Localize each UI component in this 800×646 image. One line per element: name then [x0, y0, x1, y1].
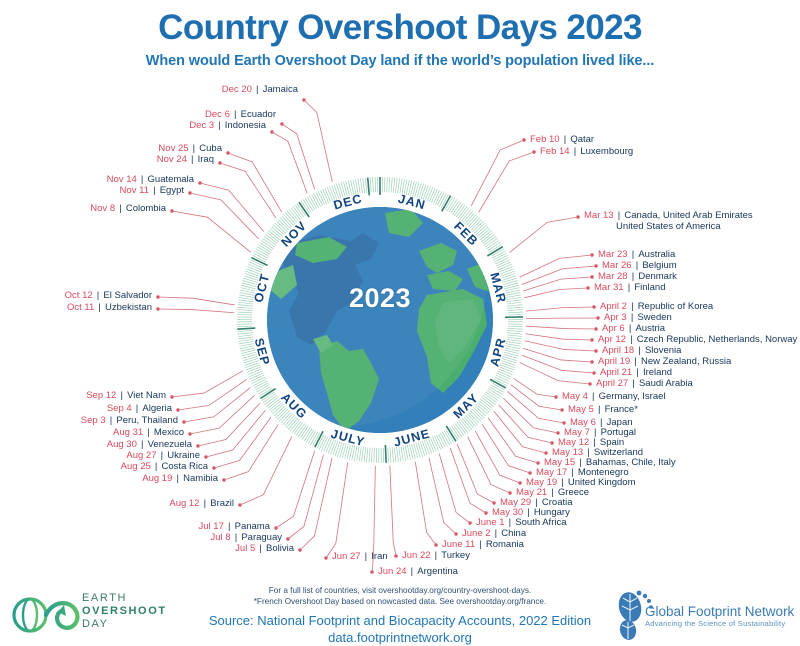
leader-line: [326, 462, 348, 558]
country-overshoot-label: Apr 6 | Austria: [602, 323, 665, 335]
overshoot-date: Mar 23: [598, 249, 628, 260]
country-overshoot-label: Mar 28 | Denmark: [598, 271, 677, 283]
overshoot-date: June 2: [462, 528, 491, 539]
country-overshoot-label: Nov 8 | Colombia: [90, 203, 166, 215]
label-separator: |: [547, 487, 558, 498]
label-separator: |: [143, 427, 154, 438]
overshoot-date: Sep 12: [86, 390, 116, 401]
country-name: Republic of Korea: [638, 301, 714, 312]
overshoot-date: May 30: [492, 507, 523, 518]
overshoot-date: June 11: [442, 539, 475, 550]
country-overshoot-label: June 11 | Romania: [442, 539, 524, 551]
earth-globe: [267, 207, 493, 433]
label-separator: |: [590, 427, 601, 438]
label-separator: |: [475, 539, 486, 550]
country-name: France*: [605, 404, 638, 415]
overshoot-date: June 1: [476, 517, 505, 528]
leader-line: [526, 318, 598, 319]
overshoot-date: Feb 10: [530, 134, 560, 145]
country-name-continued: United States of America: [584, 221, 753, 232]
country-overshoot-label: Mar 26 | Belgium: [602, 260, 677, 272]
globe-infinity-icon: [14, 599, 77, 631]
globe-dial: 2023 JANFEBMARAPRMAYJUNEJULYAUGSEPOCTNOV…: [235, 175, 525, 465]
country-name: Egypt: [160, 185, 184, 196]
label-separator: |: [231, 532, 242, 543]
country-name: Spain: [600, 437, 624, 448]
country-overshoot-label: Jun 22 | Turkey: [402, 550, 470, 562]
label-separator: |: [199, 498, 210, 509]
country-name: Denmark: [638, 271, 677, 282]
country-name: Bolivia: [266, 543, 294, 554]
country-name: United Kingdom: [568, 477, 636, 488]
overshoot-date: April 21: [600, 367, 632, 378]
country-overshoot-label: Oct 11 | Uzbekistan: [67, 302, 152, 314]
country-name: Saudi Arabia: [639, 378, 693, 389]
country-overshoot-label: April 21 | Ireland: [600, 367, 672, 379]
country-overshoot-label: May 12 | Spain: [558, 437, 624, 449]
country-overshoot-label: Aug 31 | Mexico: [113, 427, 184, 439]
country-name: Guatemala: [148, 174, 194, 185]
overshoot-date: Apr 6: [602, 323, 625, 334]
country-overshoot-label: Mar 31 | Finland: [594, 282, 666, 294]
label-separator: |: [132, 403, 143, 414]
country-overshoot-label: Aug 30 | Venezuela: [107, 439, 192, 451]
overshoot-date: May 15: [544, 457, 575, 468]
country-name: Finland: [634, 282, 665, 293]
country-overshoot-label: May 19 | United Kingdom: [526, 477, 636, 489]
country-name: Belgium: [642, 260, 676, 271]
leader-line: [158, 297, 235, 305]
eod-line-3: DAY: [82, 618, 167, 631]
leader-line: [525, 334, 592, 340]
label-separator: |: [531, 497, 542, 508]
leader-line: [520, 255, 592, 277]
label-separator: |: [596, 417, 607, 428]
country-name: New Zealand, Russia: [641, 356, 731, 367]
country-name: Qatar: [570, 134, 594, 145]
leader-line: [288, 455, 323, 539]
label-separator: |: [189, 143, 200, 154]
overshoot-date: Nov 8: [90, 203, 115, 214]
country-overshoot-label: Jul 8 | Paraguay: [211, 532, 283, 544]
label-separator: |: [106, 415, 117, 426]
label-separator: |: [632, 367, 643, 378]
country-name: Venezuela: [148, 439, 192, 450]
eod-line-2: OVERSHOOT: [82, 605, 167, 618]
label-separator: |: [361, 551, 372, 562]
label-separator: |: [588, 391, 599, 402]
country-name: Iraq: [198, 154, 214, 165]
country-name: Ukraine: [167, 450, 200, 461]
country-name: Czech Republic, Netherlands, Norway: [637, 334, 798, 345]
label-separator: |: [624, 282, 635, 293]
label-separator: |: [583, 447, 594, 458]
leader-line: [300, 458, 332, 550]
country-name: Ecuador: [241, 109, 276, 120]
country-name: China: [501, 528, 526, 539]
overshoot-date: May 6: [570, 417, 596, 428]
label-separator: |: [137, 174, 148, 185]
gfn-tagline: Advancing the Science of Sustainability: [645, 619, 794, 628]
country-name: Ireland: [643, 367, 672, 378]
label-separator: |: [252, 84, 263, 95]
overshoot-date: Jul 8: [211, 532, 231, 543]
label-separator: |: [614, 210, 625, 221]
country-overshoot-label: Sep 12 | Viet Nam: [86, 390, 166, 402]
overshoot-date: Feb 14: [540, 146, 570, 157]
overshoot-date: Sep 3: [81, 415, 106, 426]
overshoot-date: Apr 3: [604, 312, 627, 323]
overshoot-date: Mar 26: [602, 260, 632, 271]
country-name: Colombia: [126, 203, 166, 214]
overshoot-date: April 18: [602, 345, 634, 356]
country-name: Luxembourg: [580, 146, 633, 157]
label-separator: |: [523, 507, 534, 518]
leader-line: [522, 355, 594, 373]
overshoot-date: May 7: [564, 427, 590, 438]
country-name: Romania: [486, 539, 524, 550]
gfn-wordmark: Global Footprint Network Advancing the S…: [645, 604, 794, 628]
label-separator: |: [137, 439, 148, 450]
country-name: Mexico: [154, 427, 184, 438]
overshoot-date: April 2: [600, 301, 627, 312]
leader-line: [523, 277, 592, 291]
overshoot-date: May 12: [558, 437, 589, 448]
country-overshoot-label: May 17 | Montenegro: [536, 467, 629, 479]
country-overshoot-label: Mar 23 | Australia: [598, 249, 675, 261]
label-separator: |: [115, 203, 126, 214]
label-separator: |: [491, 528, 502, 539]
country-overshoot-label: April 18 | Slovenia: [602, 345, 681, 357]
leader-line: [158, 309, 234, 313]
country-overshoot-label: Nov 11 | Egypt: [120, 185, 184, 197]
country-overshoot-label: Aug 25 | Costa Rica: [121, 461, 208, 473]
label-separator: |: [151, 461, 162, 472]
label-separator: |: [589, 437, 600, 448]
label-separator: |: [634, 345, 645, 356]
overshoot-date: Nov 11: [120, 185, 149, 196]
overshoot-date: Sep 4: [107, 403, 132, 414]
country-overshoot-label: Dec 20 | Jamaica: [222, 84, 298, 96]
country-overshoot-label: May 29 | Croatia: [500, 497, 573, 509]
country-overshoot-label: May 21 | Greece: [516, 487, 589, 499]
country-overshoot-label: May 7 | Portugal: [564, 427, 636, 439]
leader-line: [522, 266, 596, 285]
label-separator: |: [594, 404, 605, 415]
overshoot-date: April 19: [598, 356, 630, 367]
country-name: Japan: [607, 417, 633, 428]
overshoot-date: Jul 5: [235, 543, 255, 554]
country-overshoot-label: Aug 19 | Namibia: [142, 473, 218, 485]
country-overshoot-label: May 6 | Japan: [570, 417, 633, 429]
country-name: Viet Nam: [127, 390, 166, 401]
country-overshoot-label: Aug 27 | Ukraine: [126, 450, 200, 462]
label-separator: |: [157, 450, 168, 461]
overshoot-date: Mar 28: [598, 271, 628, 282]
label-separator: |: [93, 290, 104, 301]
label-separator: |: [557, 477, 568, 488]
country-overshoot-label: May 5 | France*: [568, 404, 638, 416]
country-overshoot-label: June 1 | South Africa: [476, 517, 567, 529]
overshoot-date: Nov 24: [157, 154, 187, 165]
country-name: Hungary: [534, 507, 570, 518]
label-separator: |: [575, 457, 586, 468]
country-name: Namibia: [183, 473, 218, 484]
overshoot-date: Jul 17: [199, 521, 224, 532]
leader-line: [525, 341, 596, 351]
country-name: Sweden: [637, 312, 671, 323]
country-overshoot-label: April 19 | New Zealand, Russia: [598, 356, 731, 368]
country-overshoot-label: Dec 3 | Indonesia: [189, 120, 266, 132]
country-name: Panama: [235, 521, 270, 532]
overshoot-date: Jun 27: [332, 551, 361, 562]
overshoot-date: Aug 25: [121, 461, 151, 472]
overshoot-date: Oct 11: [67, 302, 94, 313]
country-overshoot-label: Nov 24 | Iraq: [157, 154, 214, 166]
country-name: Algeria: [142, 403, 172, 414]
country-overshoot-label: May 4 | Germany, Israel: [562, 391, 666, 403]
overshoot-date: Aug 12: [169, 498, 199, 509]
overshoot-date: May 13: [552, 447, 583, 458]
overshoot-date: May 21: [516, 487, 547, 498]
country-name: Uzbekistan: [105, 302, 152, 313]
label-separator: |: [172, 473, 183, 484]
leader-line: [524, 288, 588, 298]
label-separator: |: [187, 154, 198, 165]
country-overshoot-label: Aug 12 | Brazil: [169, 498, 234, 510]
country-name: Costa Rica: [162, 461, 208, 472]
label-separator: |: [255, 543, 266, 554]
country-overshoot-label: Feb 14 | Luxembourg: [540, 146, 633, 158]
country-overshoot-label: June 2 | China: [462, 528, 526, 540]
leader-line: [172, 371, 243, 397]
label-separator: |: [625, 323, 636, 334]
country-name: Indonesia: [225, 120, 266, 131]
country-overshoot-label: May 15 | Bahamas, Chile, Italy: [544, 457, 676, 469]
country-overshoot-label: May 30 | Hungary: [492, 507, 570, 519]
label-separator: |: [627, 312, 638, 323]
overshoot-date: May 29: [500, 497, 531, 508]
country-name: Cuba: [199, 143, 222, 154]
earth-continents-icon: [267, 207, 493, 433]
label-separator: |: [628, 271, 639, 282]
country-overshoot-label: Jun 27 | Iran: [332, 551, 388, 563]
overshoot-date: Mar 31: [594, 282, 624, 293]
country-name: Slovenia: [645, 345, 681, 356]
label-separator: |: [567, 467, 578, 478]
label-separator: |: [94, 302, 105, 313]
label-separator: |: [116, 390, 127, 401]
leader-line: [390, 466, 396, 556]
overshoot-date: Jun 24: [378, 566, 407, 577]
country-name: El Salvador: [103, 290, 152, 301]
country-name: Peru, Thailand: [116, 415, 178, 426]
label-separator: |: [431, 550, 442, 561]
country-name: Germany, Israel: [599, 391, 666, 402]
label-separator: |: [214, 120, 225, 131]
country-name: Canada, United Arab Emirates: [624, 210, 752, 221]
country-overshoot-label: Dec 6 | Ecuador: [205, 109, 276, 121]
country-name: Argentina: [417, 566, 458, 577]
overshoot-date: Aug 30: [107, 439, 137, 450]
country-overshoot-label: Oct 12 | El Salvador: [65, 290, 152, 302]
label-separator: |: [505, 517, 516, 528]
label-separator: |: [627, 301, 638, 312]
country-name: Brazil: [210, 498, 234, 509]
country-overshoot-label: April 2 | Republic of Korea: [600, 301, 713, 313]
eod-line-1: EARTH: [82, 592, 167, 605]
country-overshoot-label: Jul 5 | Bolivia: [235, 543, 294, 555]
country-name: Bahamas, Chile, Italy: [586, 457, 676, 468]
country-overshoot-label: Jun 24 | Argentina: [378, 566, 458, 578]
infographic-canvas: Country Overshoot Days 2023 When would E…: [0, 0, 800, 646]
country-name: Montenegro: [578, 467, 629, 478]
country-name: Turkey: [441, 550, 470, 561]
label-separator: |: [560, 134, 571, 145]
overshoot-date: Mar 13: [584, 210, 614, 221]
gfn-name: Global Footprint Network: [645, 604, 794, 619]
overshoot-date: April 27: [596, 378, 628, 389]
country-name: Portugal: [601, 427, 636, 438]
label-separator: |: [630, 356, 641, 367]
overshoot-date: Aug 27: [126, 450, 156, 461]
country-overshoot-label: Jul 17 | Panama: [199, 521, 271, 533]
label-separator: |: [628, 378, 639, 389]
overshoot-date: Dec 20: [222, 84, 252, 95]
label-separator: |: [632, 260, 643, 271]
country-overshoot-label: Nov 25 | Cuba: [158, 143, 222, 155]
label-separator: |: [230, 109, 241, 120]
label-separator: |: [570, 146, 581, 157]
earth-overshoot-day-wordmark: EARTH OVERSHOOT DAY: [82, 592, 167, 631]
leader-line: [526, 307, 594, 311]
overshoot-date: Dec 6: [205, 109, 230, 120]
overshoot-date: May 19: [526, 477, 557, 488]
country-name: Paraguay: [241, 532, 282, 543]
country-overshoot-label: May 13 | Switzerland: [552, 447, 643, 459]
center-year: 2023: [235, 283, 525, 314]
country-name: Austria: [635, 323, 665, 334]
leader-line: [429, 458, 456, 534]
overshoot-date: May 4: [562, 391, 588, 402]
label-separator: |: [407, 566, 418, 577]
country-name: Jamaica: [263, 84, 298, 95]
country-overshoot-label: April 27 | Saudi Arabia: [596, 378, 693, 390]
label-separator: |: [626, 334, 637, 345]
country-name: Greece: [558, 487, 589, 498]
overshoot-date: Oct 12: [65, 290, 93, 301]
overshoot-date: Apr 12: [598, 334, 626, 345]
overshoot-date: Nov 14: [107, 174, 137, 185]
overshoot-date: May 17: [536, 467, 567, 478]
country-overshoot-label: Sep 3 | Peru, Thailand: [81, 415, 178, 427]
overshoot-date: Nov 25: [158, 143, 188, 154]
country-name: Australia: [638, 249, 675, 260]
country-overshoot-label: Feb 10 | Qatar: [530, 134, 594, 146]
overshoot-date: Aug 31: [113, 427, 143, 438]
country-overshoot-label: Mar 13 | Canada, United Arab EmiratesUni…: [584, 210, 753, 232]
country-name: Croatia: [542, 497, 573, 508]
leader-line: [520, 363, 590, 384]
label-separator: |: [224, 521, 235, 532]
country-overshoot-label: Apr 12 | Czech Republic, Netherlands, No…: [598, 334, 797, 346]
label-separator: |: [628, 249, 639, 260]
country-overshoot-label: Sep 4 | Algeria: [107, 403, 172, 415]
overshoot-date: Dec 3: [189, 120, 214, 131]
label-separator: |: [149, 185, 160, 196]
leader-line: [526, 326, 596, 329]
overshoot-date: Jun 22: [402, 550, 431, 561]
overshoot-date: May 5: [568, 404, 594, 415]
country-overshoot-label: Apr 3 | Sweden: [604, 312, 672, 324]
overshoot-date: Aug 19: [142, 473, 172, 484]
country-overshoot-label: Nov 14 | Guatemala: [107, 174, 194, 186]
country-name: Switzerland: [594, 447, 643, 458]
country-name: South Africa: [515, 517, 566, 528]
country-name: Iran: [371, 551, 387, 562]
